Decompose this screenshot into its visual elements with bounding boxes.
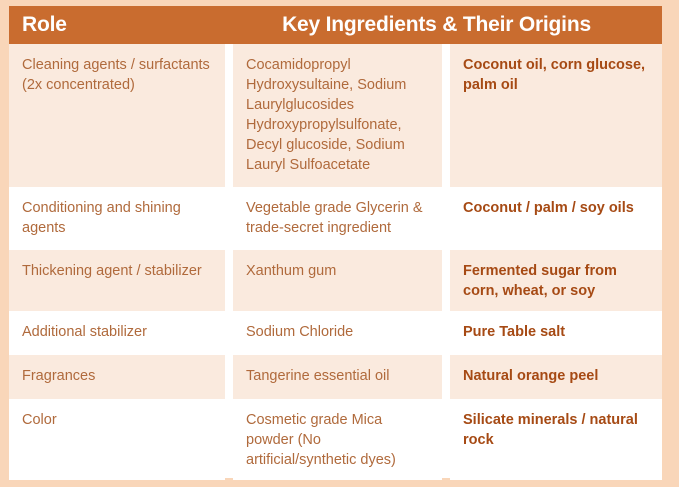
column-header-key-ingredients: Key Ingredients & Their Origins (225, 6, 662, 44)
table-row: Fragrances Tangerine essential oil Natur… (9, 355, 662, 399)
cell-role-text: Conditioning and shining agents (22, 198, 215, 238)
cell-role-text: Additional stabilizer (22, 322, 215, 342)
cell-ingredients: Sodium Chloride (233, 311, 442, 355)
cell-ingredients: Xanthum gum (233, 250, 442, 311)
cell-ingredients: Cosmetic grade Mica powder (No artificia… (233, 399, 442, 480)
cell-origins-text: Silicate minerals / natural rock (463, 410, 652, 450)
cell-ingredients-text: Cocamidopropyl Hydroxysultaine, Sodium L… (246, 55, 432, 175)
cell-origins-text: Fermented sugar from corn, wheat, or soy (463, 261, 652, 301)
cell-role: Conditioning and shining agents (9, 187, 225, 250)
cell-origins: Coconut / palm / soy oils (450, 187, 662, 250)
cell-ingredients-text: Tangerine essential oil (246, 366, 432, 386)
cell-origins: Pure Table salt (450, 311, 662, 355)
table-row: Additional stabilizer Sodium Chloride Pu… (9, 311, 662, 355)
cell-origins: Natural orange peel (450, 355, 662, 399)
ingredients-table: Role Key Ingredients & Their Origins Cle… (9, 6, 662, 478)
cell-role-text: Color (22, 410, 215, 430)
table-row: Color Cosmetic grade Mica powder (No art… (9, 399, 662, 480)
table-row: Cleaning agents / surfactants (2x concen… (9, 44, 662, 187)
table-body: Cleaning agents / surfactants (2x concen… (9, 44, 662, 480)
cell-origins-text: Pure Table salt (463, 322, 652, 342)
table-header-row: Role Key Ingredients & Their Origins (9, 6, 662, 44)
cell-origins-text: Coconut / palm / soy oils (463, 198, 652, 218)
cell-ingredients-text: Xanthum gum (246, 261, 432, 281)
cell-role: Fragrances (9, 355, 225, 399)
table-row: Thickening agent / stabilizer Xanthum gu… (9, 250, 662, 311)
cell-origins: Coconut oil, corn glucose, palm oil (450, 44, 662, 187)
cell-role: Color (9, 399, 225, 480)
cell-role-text: Fragrances (22, 366, 215, 386)
cell-origins-text: Coconut oil, corn glucose, palm oil (463, 55, 652, 95)
table-frame: Role Key Ingredients & Their Origins Cle… (0, 0, 679, 487)
cell-ingredients-text: Cosmetic grade Mica powder (No artificia… (246, 410, 432, 470)
cell-role-text: Cleaning agents / surfactants (2x concen… (22, 55, 215, 95)
cell-role-text: Thickening agent / stabilizer (22, 261, 215, 281)
cell-origins: Silicate minerals / natural rock (450, 399, 662, 480)
cell-role: Thickening agent / stabilizer (9, 250, 225, 311)
table-row: Conditioning and shining agents Vegetabl… (9, 187, 662, 250)
cell-ingredients: Vegetable grade Glycerin & trade-secret … (233, 187, 442, 250)
cell-role: Cleaning agents / surfactants (2x concen… (9, 44, 225, 187)
cell-origins-text: Natural orange peel (463, 366, 652, 386)
cell-role: Additional stabilizer (9, 311, 225, 355)
cell-ingredients: Cocamidopropyl Hydroxysultaine, Sodium L… (233, 44, 442, 187)
cell-ingredients-text: Sodium Chloride (246, 322, 432, 342)
cell-ingredients-text: Vegetable grade Glycerin & trade-secret … (246, 198, 432, 238)
cell-origins: Fermented sugar from corn, wheat, or soy (450, 250, 662, 311)
column-header-role: Role (9, 6, 225, 44)
cell-ingredients: Tangerine essential oil (233, 355, 442, 399)
